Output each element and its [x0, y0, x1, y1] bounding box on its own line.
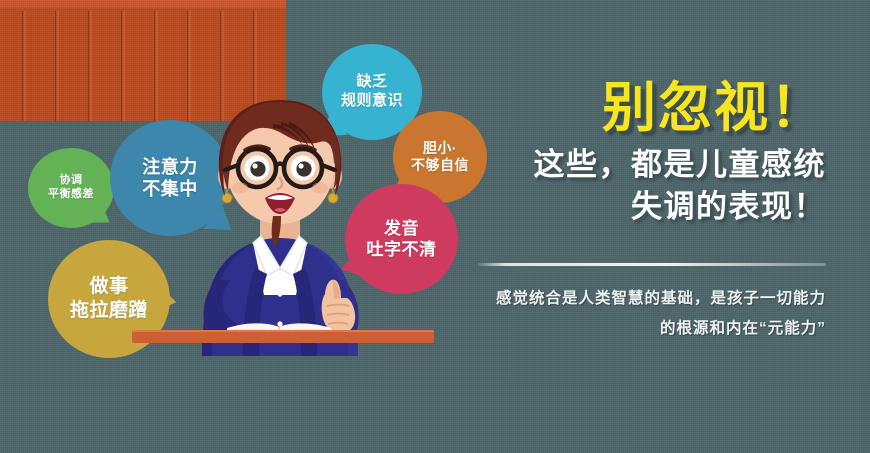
tagline-block: 感觉统合是人类智慧的基础，是孩子一切能力 的根源和内在“元能力” [426, 284, 826, 344]
blush-right [312, 183, 328, 194]
bubble-line: 平衡感差 [48, 188, 94, 202]
hand-right-thumb-up [322, 280, 355, 333]
headline-sub-line1: 这些，都是儿童感统 [534, 145, 827, 185]
tagline-line2: 的根源和内在“元能力” [426, 314, 826, 344]
blush-left [232, 183, 248, 194]
button [277, 291, 282, 296]
bubble-line: 做事 [89, 275, 128, 299]
earring-left [222, 193, 232, 203]
bubble-line: 不够自信 [411, 157, 469, 175]
bubble-tail [89, 205, 115, 232]
podium-top-surface [132, 330, 434, 343]
headline-block: 别忽视！ 这些，都是儿童感统 失调的表现！ [534, 80, 827, 227]
tagline-line1: 感觉统合是人类智慧的基础，是孩子一切能力 [426, 284, 826, 314]
teacher-illustration [155, 88, 405, 356]
earring-right [328, 193, 338, 203]
headline-main: 别忽视！ [534, 80, 827, 136]
bubble-line: 拖拉磨蹭 [70, 299, 148, 323]
divider-line [478, 263, 826, 266]
bubble-coordination: 协调 平衡感差 [28, 148, 114, 228]
headline-sub-line2: 失调的表现！ [534, 187, 827, 227]
button [277, 321, 282, 326]
promotional-banner: 协调 平衡感差 注意力 不集中 缺乏 规则意识 胆小· 不够自信 发音 吐字不清… [0, 0, 870, 453]
bubble-line: 胆小· [423, 140, 457, 158]
bubble-line: 协调 [60, 174, 83, 188]
